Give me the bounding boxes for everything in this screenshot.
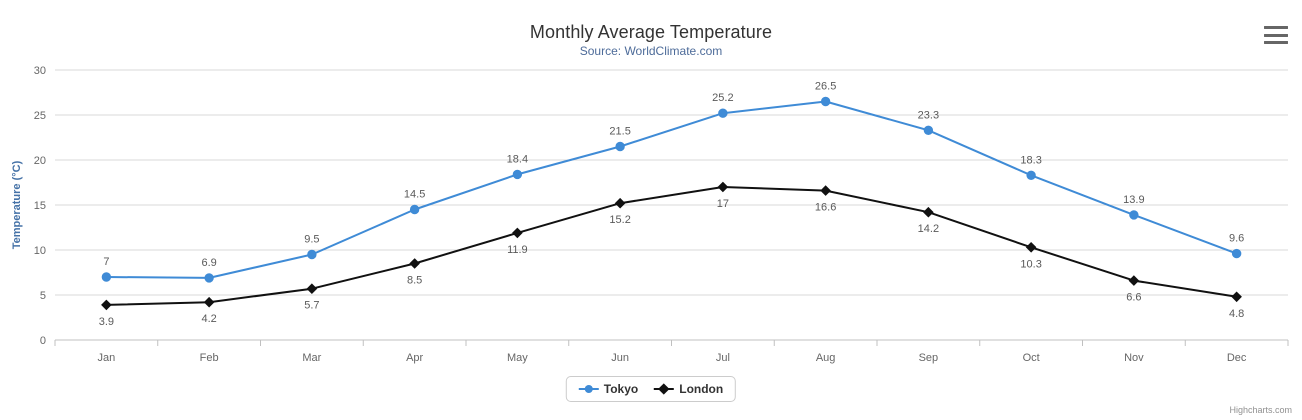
- data-label: 14.5: [404, 189, 425, 201]
- x-axis-tick-label: Jun: [611, 352, 629, 364]
- data-label: 6.9: [201, 257, 216, 269]
- data-label: 11.9: [507, 244, 528, 256]
- x-axis-tick-label: Jan: [98, 352, 116, 364]
- data-label: 13.9: [1123, 194, 1144, 206]
- legend-item-label: London: [679, 382, 723, 396]
- x-axis-tick-label: Jul: [716, 352, 730, 364]
- legend-item-tokyo[interactable]: Tokyo: [579, 382, 638, 396]
- data-point-tokyo-may[interactable]: [513, 170, 521, 178]
- data-label: 23.3: [918, 109, 939, 121]
- legend-marker: [585, 385, 593, 393]
- legend-marker: [659, 383, 670, 394]
- data-point-london-dec[interactable]: [1232, 292, 1241, 301]
- data-label: 25.2: [712, 92, 733, 104]
- data-label: 14.2: [918, 223, 939, 235]
- data-label: 8.5: [407, 275, 422, 287]
- data-point-london-jan[interactable]: [102, 300, 111, 309]
- data-point-tokyo-nov[interactable]: [1130, 211, 1138, 219]
- series-line-tokyo[interactable]: [106, 102, 1236, 278]
- x-axis-tick-label: Feb: [200, 352, 219, 364]
- data-label: 4.2: [201, 313, 216, 325]
- data-label: 4.8: [1229, 308, 1244, 320]
- legend-item-label: Tokyo: [604, 382, 638, 396]
- data-label: 17: [717, 198, 729, 210]
- credits-link[interactable]: Highcharts.com: [1229, 405, 1292, 415]
- x-axis-tick-label: Oct: [1023, 352, 1040, 364]
- x-axis-tick-label: Dec: [1227, 352, 1247, 364]
- y-axis-tick-label: 10: [34, 245, 46, 257]
- data-label: 18.3: [1020, 154, 1041, 166]
- data-point-tokyo-jun[interactable]: [616, 142, 624, 150]
- data-point-london-nov[interactable]: [1129, 276, 1138, 285]
- y-axis-tick-label: 0: [40, 335, 46, 347]
- x-axis-tick-label: Apr: [406, 352, 423, 364]
- x-axis-tick-label: Nov: [1124, 352, 1144, 364]
- data-point-london-may[interactable]: [513, 228, 522, 237]
- data-label: 15.2: [609, 214, 630, 226]
- data-point-london-jun[interactable]: [616, 199, 625, 208]
- data-label: 16.6: [815, 202, 836, 214]
- data-point-tokyo-dec[interactable]: [1232, 249, 1240, 257]
- legend-symbol-diamond-icon: [654, 383, 674, 395]
- y-axis-title: Temperature (°C): [11, 160, 23, 249]
- data-point-tokyo-mar[interactable]: [308, 250, 316, 258]
- data-label: 6.6: [1126, 292, 1141, 304]
- y-axis-tick-label: 15: [34, 200, 46, 212]
- x-axis-tick-label: May: [507, 352, 528, 364]
- data-label: 5.7: [304, 300, 319, 312]
- y-axis-tick-label: 20: [34, 155, 46, 167]
- y-axis-tick-label: 30: [34, 65, 46, 77]
- data-label: 7: [103, 256, 109, 268]
- data-point-tokyo-apr[interactable]: [410, 205, 418, 213]
- x-axis-tick-label: Mar: [302, 352, 321, 364]
- data-point-tokyo-sep[interactable]: [924, 126, 932, 134]
- legend-symbol-circle-icon: [579, 383, 599, 395]
- data-point-london-jul[interactable]: [718, 182, 727, 191]
- x-axis-tick-label: Aug: [816, 352, 836, 364]
- chart-container: Monthly Average Temperature Source: Worl…: [0, 0, 1302, 420]
- data-label: 3.9: [99, 316, 114, 328]
- data-point-tokyo-feb[interactable]: [205, 274, 213, 282]
- data-label: 10.3: [1020, 258, 1041, 270]
- data-point-london-mar[interactable]: [307, 284, 316, 293]
- data-point-london-feb[interactable]: [205, 298, 214, 307]
- data-point-london-apr[interactable]: [410, 259, 419, 268]
- data-point-tokyo-jul[interactable]: [719, 109, 727, 117]
- data-point-london-aug[interactable]: [821, 186, 830, 195]
- data-label: 9.6: [1229, 233, 1244, 245]
- plot-area: 051015202530JanFebMarAprMayJunJulAugSepO…: [0, 0, 1302, 420]
- data-point-london-oct[interactable]: [1027, 243, 1036, 252]
- data-label: 21.5: [609, 126, 630, 138]
- data-label: 26.5: [815, 81, 836, 93]
- data-label: 9.5: [304, 234, 319, 246]
- data-point-tokyo-oct[interactable]: [1027, 171, 1035, 179]
- y-axis-tick-label: 25: [34, 110, 46, 122]
- x-axis-tick-label: Sep: [919, 352, 939, 364]
- data-point-tokyo-jan[interactable]: [102, 273, 110, 281]
- data-point-tokyo-aug[interactable]: [821, 97, 829, 105]
- legend-item-london[interactable]: London: [654, 382, 723, 396]
- y-axis-tick-label: 5: [40, 290, 46, 302]
- data-label: 18.4: [507, 153, 528, 165]
- chart-legend: TokyoLondon: [566, 376, 736, 402]
- data-point-london-sep[interactable]: [924, 208, 933, 217]
